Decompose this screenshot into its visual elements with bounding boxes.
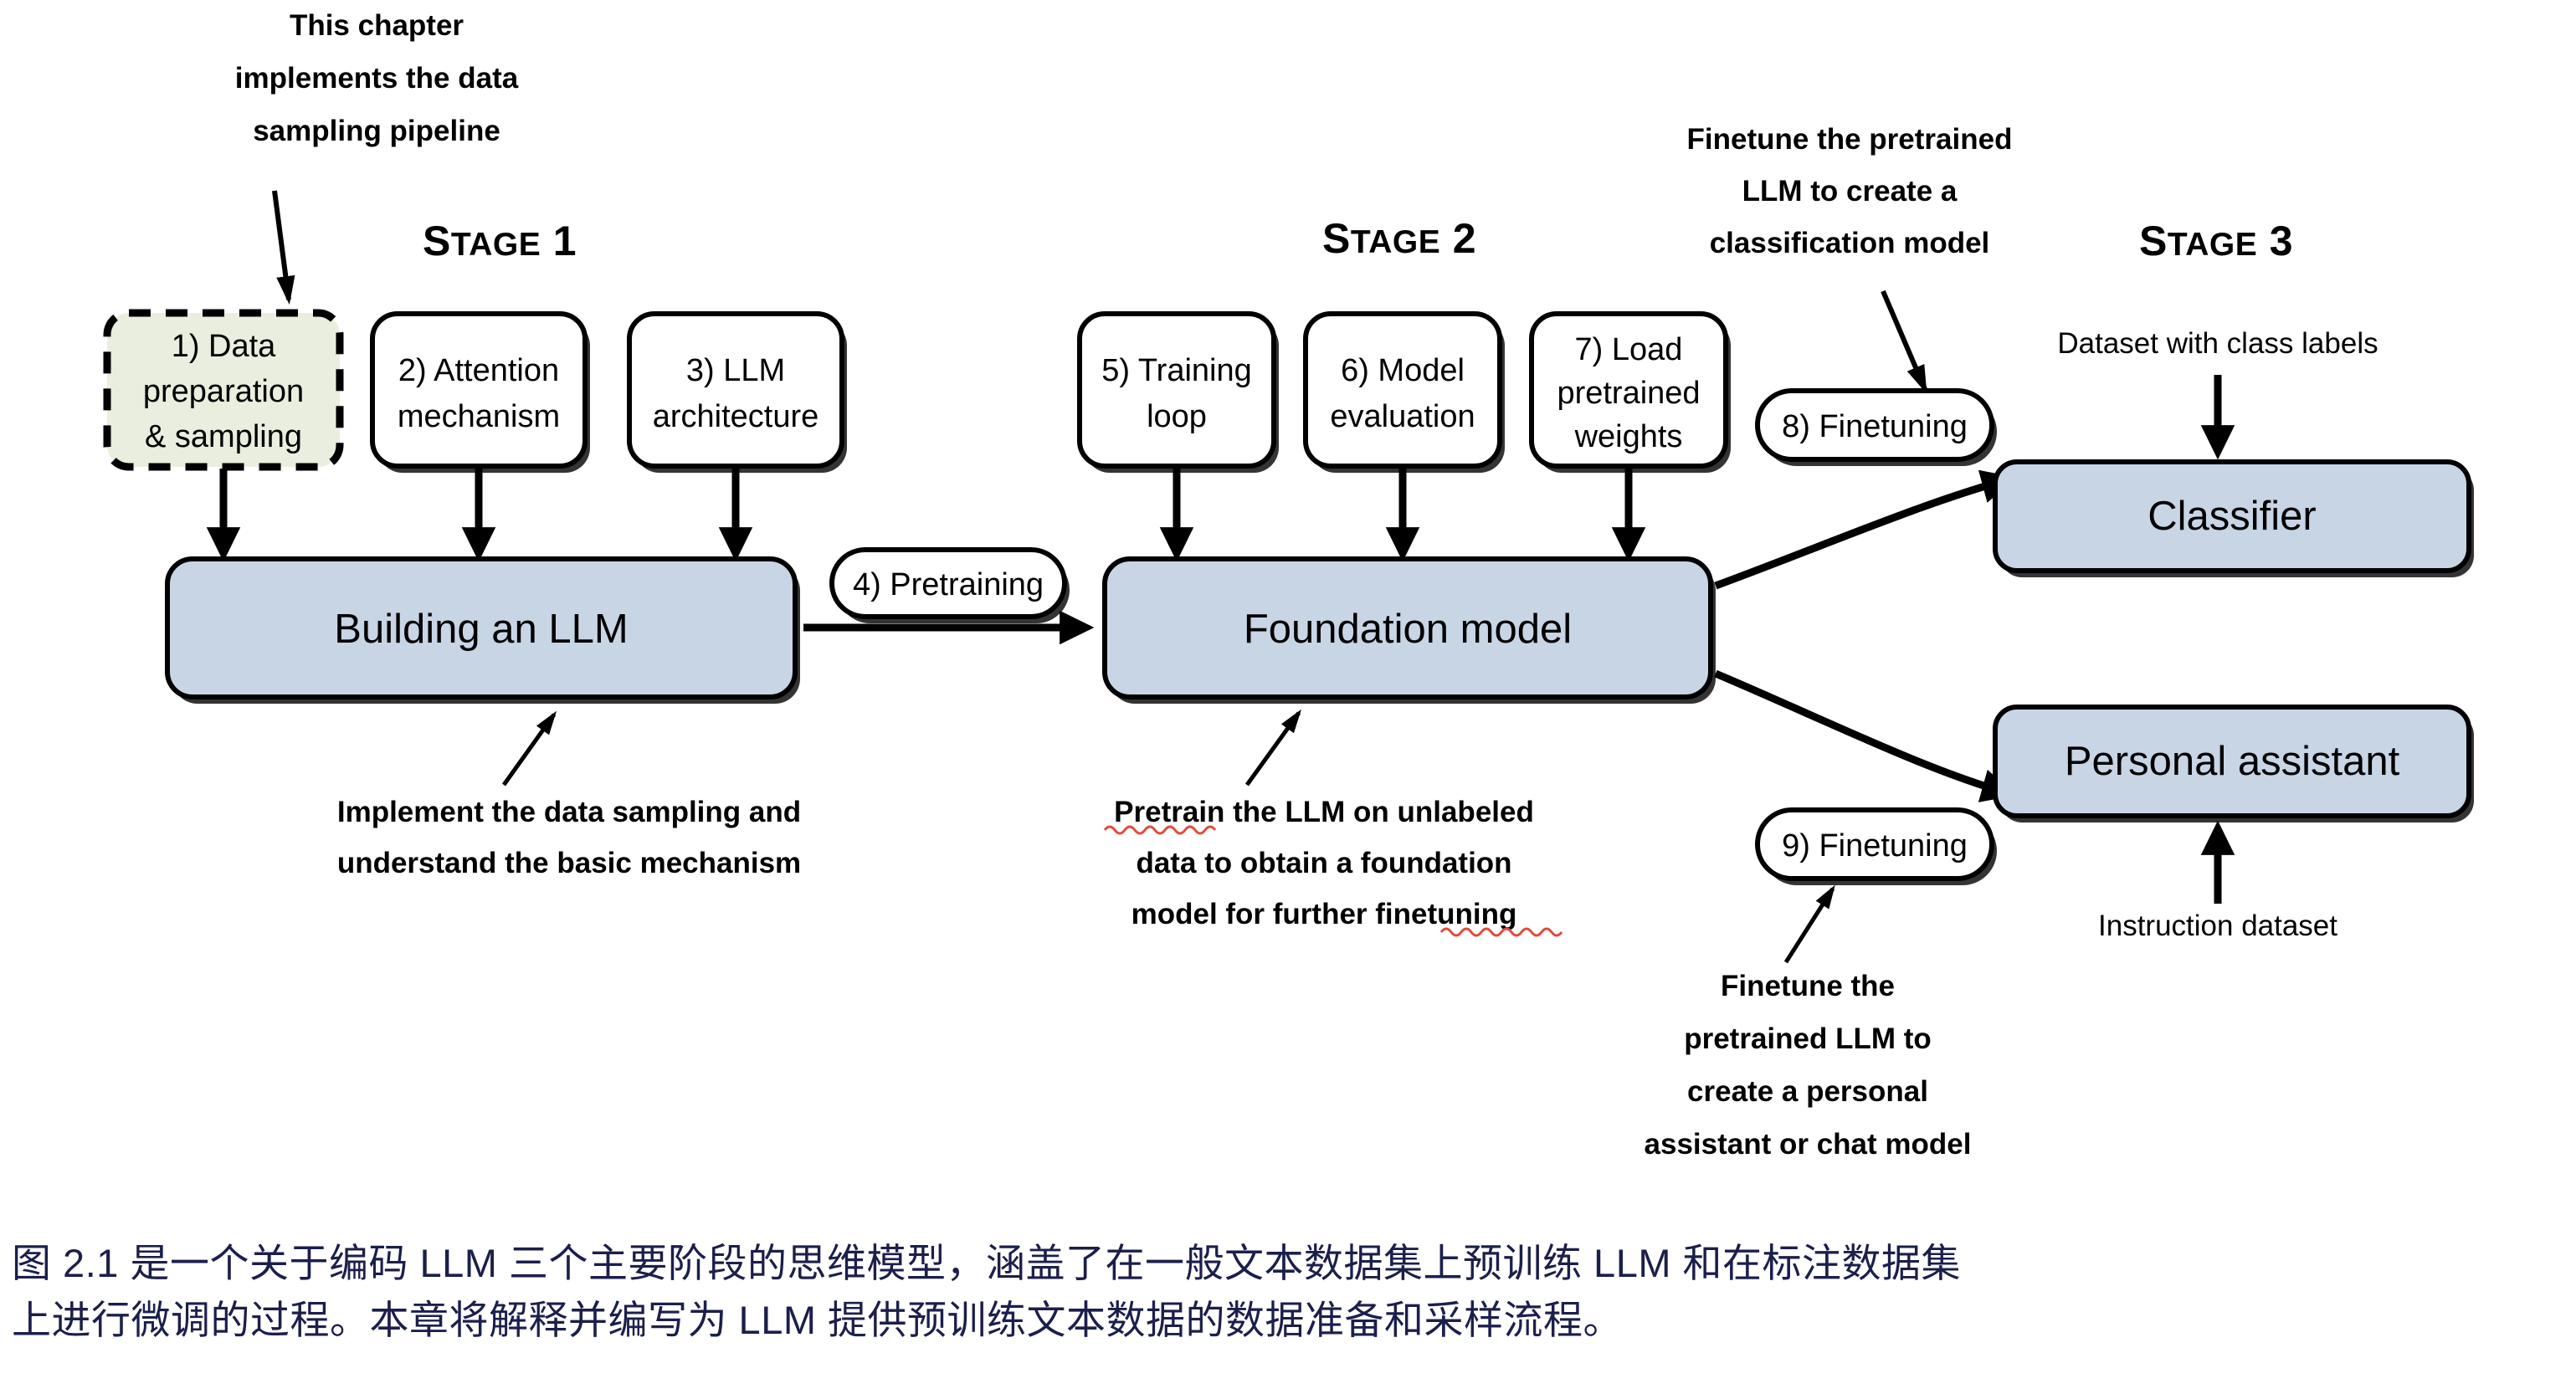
step-box-7[interactable]: 7) Load pretrained weights [1532,314,1731,473]
implement-note: Implement the data sampling and understa… [337,796,801,879]
svg-text:STAGE 3: STAGE 3 [2139,218,2293,264]
svg-text:This chapter: This chapter [290,9,464,42]
classification-note-arrow [1883,291,1925,389]
step-box-6[interactable]: 6) Model evaluation [1306,314,1505,473]
svg-text:5) Training: 5) Training [1101,353,1252,388]
svg-text:architecture: architecture [653,399,819,434]
step-box-5[interactable]: 5) Training loop [1080,314,1279,473]
svg-text:Finetune the: Finetune the [1721,970,1895,1002]
svg-text:classification model: classification model [1710,227,1990,259]
svg-text:Classifier: Classifier [2148,494,2316,539]
svg-text:pretrained: pretrained [1557,376,1700,411]
svg-text:pretrained LLM to: pretrained LLM to [1684,1022,1932,1055]
svg-text:Implement the data sampling an: Implement the data sampling and [337,796,801,828]
svg-text:7) Load: 7) Load [1575,332,1683,367]
svg-text:& sampling: & sampling [145,419,302,454]
assistant-note: Finetune the pretrained LLM to create a … [1645,970,1972,1161]
assistant-note-arrow [1786,889,1833,962]
svg-text:Foundation model: Foundation model [1244,607,1572,652]
svg-text:Instruction dataset: Instruction dataset [2098,910,2337,942]
svg-text:4) Pretraining: 4) Pretraining [853,567,1044,602]
svg-text:6) Model: 6) Model [1341,353,1465,388]
step-box-3[interactable]: 3) LLM architecture [629,314,847,473]
instruction-dataset-label: Instruction dataset [2098,910,2337,942]
step-box-1[interactable]: 1) Data preparation & sampling [107,313,340,467]
dataset-class-labels-label: Dataset with class labels [2057,327,2378,360]
svg-text:Building an LLM: Building an LLM [334,607,628,652]
svg-text:STAGE 2: STAGE 2 [1322,215,1476,262]
svg-text:1) Data: 1) Data [172,329,276,364]
caption-line-2: 上进行微调的过程。本章将解释并编写为 LLM 提供预训练文本数据的数据准备和采样… [12,1292,2564,1349]
svg-text:Finetune the pretrained: Finetune the pretrained [1687,123,2013,156]
pill-box-4-pretraining[interactable]: 4) Pretraining [832,550,1070,623]
svg-text:evaluation: evaluation [1330,399,1475,434]
pretrain-note-arrow [1247,713,1299,785]
svg-text:LLM to create a: LLM to create a [1742,175,1958,208]
svg-text:create a personal: create a personal [1687,1075,1928,1108]
main-box-classifier[interactable]: Classifier [1995,462,2474,577]
llm-stages-diagram: STAGE 1 STAGE 2 STAGE 3 This chapter imp… [0,0,2576,1399]
step-box-2[interactable]: 2) Attention mechanism [372,314,590,473]
implement-note-arrow [504,715,554,785]
svg-text:preparation: preparation [143,374,304,409]
svg-text:sampling pipeline: sampling pipeline [253,115,500,147]
svg-text:Personal assistant: Personal assistant [2065,739,2400,784]
main-box-foundation-model[interactable]: Foundation model [1105,559,1716,704]
svg-text:STAGE 1: STAGE 1 [423,218,577,264]
main-box-personal-assistant[interactable]: Personal assistant [1995,707,2474,822]
figure-caption: 图 2.1 是一个关于编码 LLM 三个主要阶段的思维模型，涵盖了在一般文本数据… [12,1235,2564,1349]
svg-text:8) Finetuning: 8) Finetuning [1782,409,1968,444]
stage-3-label: STAGE 3 [2139,218,2293,264]
svg-text:understand the basic mechanism: understand the basic mechanism [337,847,801,879]
stage-1-label: STAGE 1 [423,218,577,264]
svg-text:model for further finetuning: model for further finetuning [1131,898,1517,930]
svg-text:weights: weights [1574,419,1683,454]
pill-box-9-finetuning[interactable]: 9) Finetuning [1758,810,1997,885]
pill-box-8-finetuning[interactable]: 8) Finetuning [1758,391,1997,466]
svg-text:implements the data: implements the data [235,62,519,95]
svg-text:loop: loop [1147,399,1207,434]
arrow-foundation-to-classifier [1716,479,2009,586]
svg-text:Dataset with class labels: Dataset with class labels [2057,327,2378,360]
figure-canvas: STAGE 1 STAGE 2 STAGE 3 This chapter imp… [0,0,2576,1399]
svg-text:data to obtain a foundation: data to obtain a foundation [1136,847,1511,879]
svg-text:2) Attention: 2) Attention [398,353,559,388]
svg-text:mechanism: mechanism [398,399,560,434]
svg-text:Pretrain the LLM on unlabeled: Pretrain the LLM on unlabeled [1114,796,1534,828]
arrow-foundation-to-assistant [1716,674,2009,793]
classification-note: Finetune the pretrained LLM to create a … [1687,123,2013,259]
main-box-building-an-llm[interactable]: Building an LLM [167,559,800,704]
pretrain-note: Pretrain the LLM on unlabeled data to ob… [1114,796,1534,930]
svg-text:9) Finetuning: 9) Finetuning [1782,828,1968,863]
stage-2-label: STAGE 2 [1322,215,1476,262]
chapter-note-arrow [275,191,289,300]
caption-line-1: 图 2.1 是一个关于编码 LLM 三个主要阶段的思维模型，涵盖了在一般文本数据… [12,1235,2564,1292]
chapter-note: This chapter implements the data samplin… [235,9,519,147]
svg-text:3) LLM: 3) LLM [686,353,785,388]
svg-text:assistant or chat model: assistant or chat model [1645,1128,1972,1161]
